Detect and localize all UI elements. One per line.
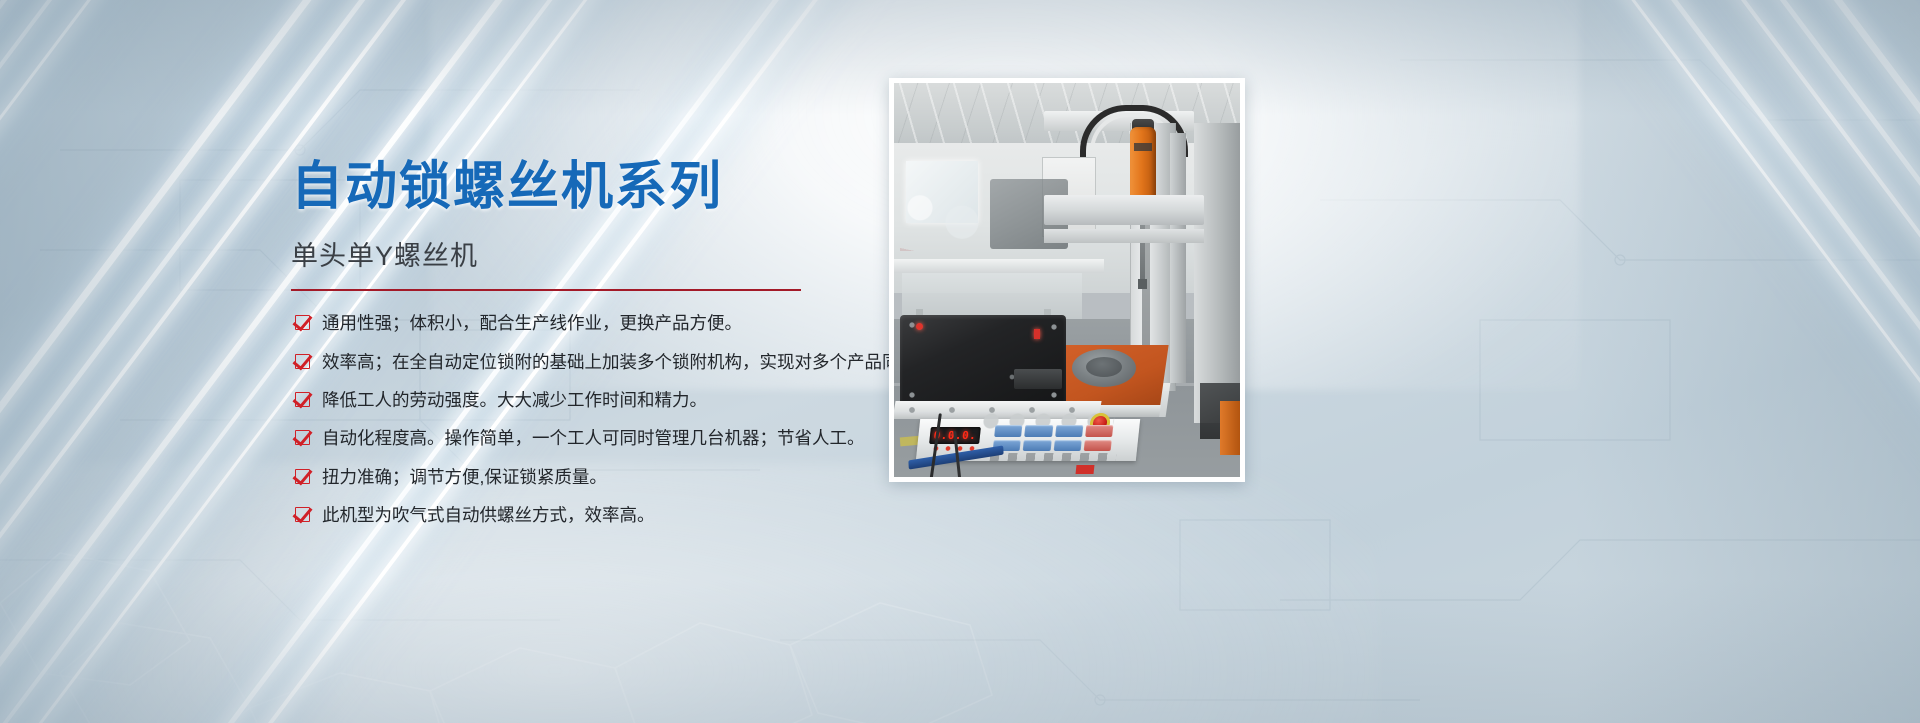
feature-text: 效率高；在全自动定位锁附的基础上加装多个锁附机构，实现对多个产品同时锁附。 bbox=[322, 350, 970, 375]
page-title: 自动锁螺丝机系列 bbox=[291, 158, 891, 216]
feature-text: 降低工人的劳动强度。大大减少工作时间和精力。 bbox=[322, 388, 707, 413]
red-checkbox-icon bbox=[295, 507, 310, 522]
product-photo: 0.0.0. bbox=[894, 83, 1240, 477]
photo-background-clutter bbox=[900, 179, 1000, 251]
page-subtitle: 单头单Y螺丝机 bbox=[291, 234, 891, 273]
feature-text: 扭力准确；调节方便,保证锁紧质量。 bbox=[322, 465, 607, 490]
control-button bbox=[1024, 425, 1052, 437]
feeder-indicator-led bbox=[916, 323, 923, 330]
list-item: 扭力准确；调节方便,保证锁紧质量。 bbox=[291, 465, 891, 490]
title-divider bbox=[291, 289, 801, 291]
red-checkbox-icon bbox=[295, 469, 310, 484]
screwdriver-bit-tip bbox=[1138, 279, 1147, 289]
feeder-indicator-led bbox=[1034, 329, 1040, 339]
control-panel-labels bbox=[990, 453, 1117, 461]
machine-x-beam bbox=[1044, 195, 1204, 225]
list-item: 效率高；在全自动定位锁附的基础上加装多个锁附机构，实现对多个产品同时锁附。 bbox=[291, 350, 891, 375]
workpiece-disc-inner bbox=[1086, 357, 1122, 377]
list-item: 此机型为吹气式自动供螺丝方式，效率高。 bbox=[291, 503, 891, 528]
machine-right-column bbox=[1194, 123, 1240, 423]
control-button bbox=[1023, 440, 1051, 452]
feature-text: 自动化程度高。操作简单，一个工人可同时管理几台机器；节省人工。 bbox=[322, 426, 865, 451]
red-checkbox-icon bbox=[295, 430, 310, 445]
red-checkbox-icon bbox=[295, 392, 310, 407]
machine-vertical-rail bbox=[1170, 133, 1186, 383]
feature-list: 通用性强；体积小，配合生产线作业，更换产品方便。 效率高；在全自动定位锁附的基础… bbox=[291, 311, 891, 528]
feature-text: 通用性强；体积小，配合生产线作业，更换产品方便。 bbox=[322, 311, 742, 336]
control-button bbox=[1083, 440, 1111, 452]
feature-text: 此机型为吹气式自动供螺丝方式，效率高。 bbox=[322, 503, 655, 528]
screwdriver-label bbox=[1134, 143, 1152, 151]
list-item: 通用性强；体积小，配合生产线作业，更换产品方便。 bbox=[291, 311, 891, 336]
banner-text-block: 自动锁螺丝机系列 单头单Y螺丝机 通用性强；体积小，配合生产线作业，更换产品方便… bbox=[291, 158, 891, 541]
photo-workbench-top bbox=[894, 259, 1104, 273]
machine-x-beam-lower bbox=[1044, 229, 1204, 243]
feeder-connector bbox=[1014, 369, 1062, 389]
red-checkbox-icon bbox=[295, 354, 310, 369]
power-switch bbox=[1076, 465, 1095, 474]
machine-right-orange-part bbox=[1220, 401, 1240, 455]
product-photo-frame: 0.0.0. bbox=[889, 78, 1245, 482]
list-item: 降低工人的劳动强度。大大减少工作时间和精力。 bbox=[291, 388, 891, 413]
control-button bbox=[994, 425, 1022, 437]
control-button bbox=[1053, 440, 1081, 452]
photo-workbench-body bbox=[902, 273, 1082, 319]
product-banner: 自动锁螺丝机系列 单头单Y螺丝机 通用性强；体积小，配合生产线作业，更换产品方便… bbox=[0, 0, 1920, 723]
red-checkbox-icon bbox=[295, 315, 310, 330]
control-button bbox=[1055, 425, 1083, 437]
control-panel-buttons bbox=[993, 425, 1114, 451]
list-item: 自动化程度高。操作简单，一个工人可同时管理几台机器；节省人工。 bbox=[291, 426, 891, 451]
control-button bbox=[1085, 425, 1113, 437]
